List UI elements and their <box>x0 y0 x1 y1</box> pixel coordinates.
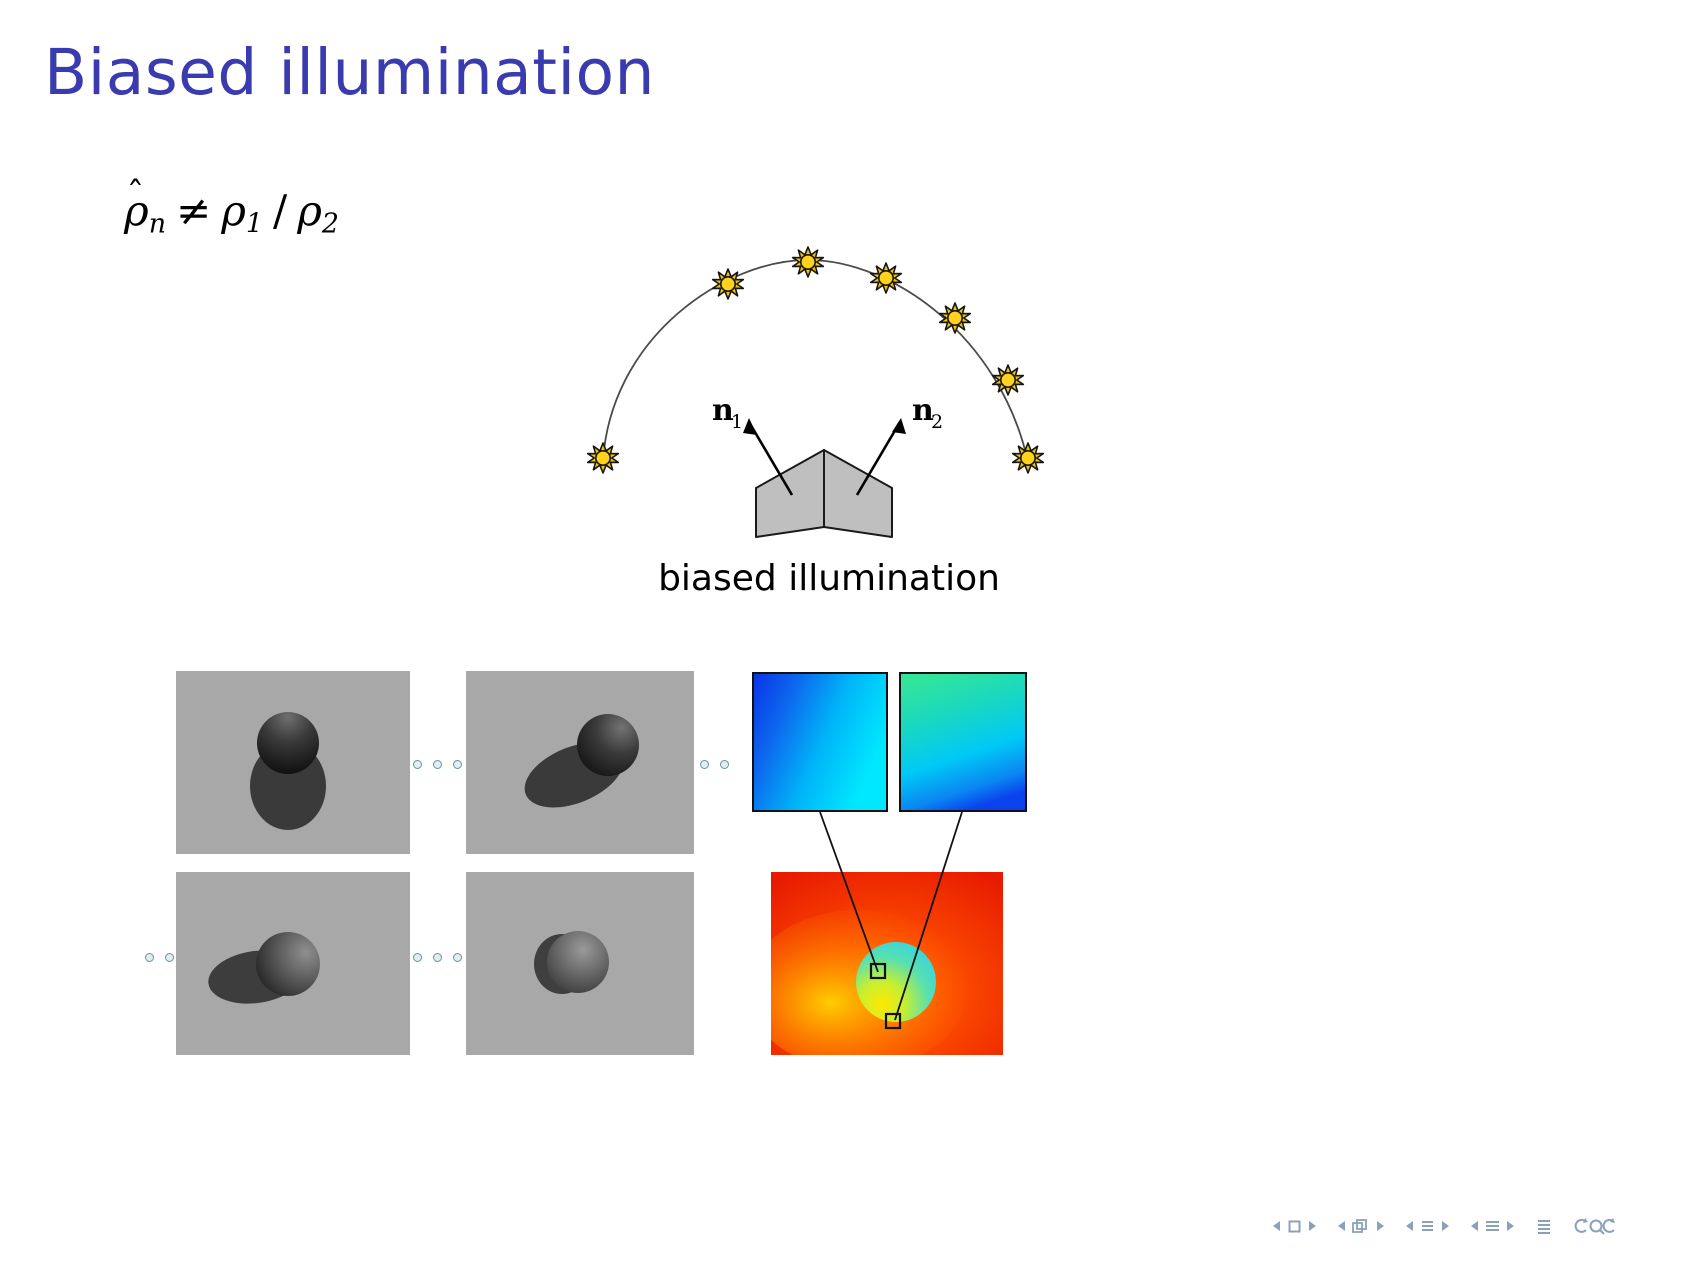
normal-label-n1-sub: 1 <box>731 411 743 433</box>
nav-next-subsection-icon[interactable] <box>1439 1219 1450 1233</box>
nav-subsection-lines-icon[interactable] <box>1419 1218 1436 1234</box>
formula-rho-inequality: ˆρn≠ρ1/ρ2 <box>124 186 339 240</box>
render-tile-bottom-right <box>466 872 694 1055</box>
formula-rho-2: ρ <box>297 186 322 235</box>
sphere <box>577 714 639 776</box>
nav-prev-slide-icon[interactable] <box>1272 1219 1283 1233</box>
sun-icon-1 <box>588 443 619 473</box>
dot <box>413 760 422 769</box>
sun-icon-3 <box>793 247 824 277</box>
sun-icon-6 <box>993 365 1024 395</box>
ellipsis-dots-row2-left <box>145 953 174 962</box>
formula-not-equal: ≠ <box>166 186 221 235</box>
nav-group-document[interactable] <box>1535 1218 1553 1235</box>
ellipsis-dots-row1-right <box>700 760 729 769</box>
dot <box>453 760 462 769</box>
sphere <box>257 712 319 774</box>
nav-next-frame-icon[interactable] <box>1374 1219 1385 1233</box>
formula-rho-1: ρ <box>221 186 246 235</box>
sun-icon-4 <box>871 263 902 293</box>
nav-prev-frame-icon[interactable] <box>1337 1219 1348 1233</box>
dot <box>433 953 442 962</box>
formula-subscript-1: 1 <box>246 209 263 240</box>
render-tile-top-right <box>466 671 694 854</box>
nav-group-section[interactable] <box>1470 1218 1515 1234</box>
wedge-surface <box>756 450 892 537</box>
dot <box>165 953 174 962</box>
nav-document-icon[interactable] <box>1535 1218 1553 1235</box>
diagram-caption: biased illumination <box>649 558 1009 599</box>
normal-label-n2-sub: 2 <box>931 411 943 433</box>
nav-back-forward-icon[interactable] <box>1573 1217 1617 1235</box>
nav-prev-subsection-icon[interactable] <box>1405 1219 1416 1233</box>
formula-slash: / <box>263 186 297 235</box>
beamer-navigation-bar[interactable] <box>1272 1213 1637 1239</box>
nav-frame-stack-icon[interactable] <box>1351 1218 1371 1234</box>
nav-next-section-icon[interactable] <box>1504 1219 1515 1233</box>
normal-map-image <box>771 872 1003 1055</box>
formula-rho-hat: ˆρ <box>124 186 149 235</box>
ellipsis-dots-row2-middle <box>413 953 462 962</box>
dot <box>700 760 709 769</box>
sphere-normal-region <box>856 942 936 1022</box>
albedo-patch-right <box>899 672 1027 812</box>
slide-canvas: Biased illumination ˆρn≠ρ1/ρ2 <box>0 0 1689 1267</box>
formula-subscript-2: 2 <box>322 209 339 240</box>
light-arc-path <box>603 260 1028 462</box>
sphere <box>256 932 320 996</box>
dot <box>720 760 729 769</box>
formula-subscript-n: n <box>149 209 166 240</box>
sphere <box>547 931 609 993</box>
nav-next-slide-icon[interactable] <box>1306 1219 1317 1233</box>
dot <box>413 953 422 962</box>
render-tile-bottom-left <box>176 872 410 1055</box>
nav-group-frame[interactable] <box>1337 1218 1385 1234</box>
render-tile-top-left <box>176 671 410 854</box>
nav-section-lines-icon[interactable] <box>1484 1218 1501 1234</box>
albedo-patch-left <box>752 672 888 812</box>
nav-group-slide[interactable] <box>1272 1219 1317 1234</box>
nav-group-back[interactable] <box>1573 1217 1617 1235</box>
illumination-arc-diagram: n 1 n 2 <box>560 240 1080 560</box>
nav-prev-section-icon[interactable] <box>1470 1219 1481 1233</box>
ellipsis-dots-row1-middle <box>413 760 462 769</box>
page-title: Biased illumination <box>44 36 655 109</box>
dot <box>145 953 154 962</box>
nav-group-subsection[interactable] <box>1405 1218 1450 1234</box>
nav-slide-square-icon[interactable] <box>1286 1219 1303 1234</box>
sun-icon-2 <box>713 269 744 299</box>
sun-icon-7 <box>1013 443 1044 473</box>
dot <box>433 760 442 769</box>
formula-hat-accent: ˆ <box>127 175 145 216</box>
dot <box>453 953 462 962</box>
